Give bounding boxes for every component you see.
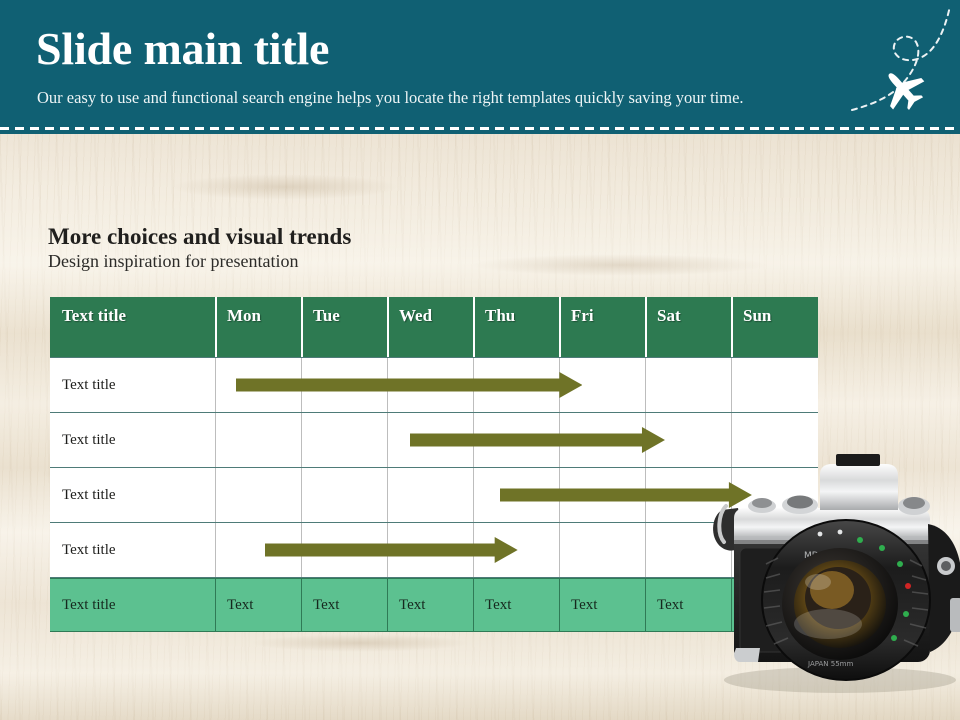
camera-photo: MD ROKKOR JAPAN 55mm (700, 448, 960, 696)
cell[interactable] (473, 358, 559, 412)
slide-header: Slide main title Our easy to use and fun… (0, 0, 960, 134)
slide-canvas: Slide main title Our easy to use and fun… (0, 0, 960, 720)
table-row[interactable]: Text title (50, 357, 818, 413)
airplane-icon (844, 0, 954, 125)
cell[interactable] (559, 413, 645, 467)
cell[interactable] (387, 358, 473, 412)
page-subtitle: Our easy to use and functional search en… (37, 88, 744, 108)
cell[interactable] (301, 523, 387, 577)
cell[interactable] (215, 358, 301, 412)
cell[interactable] (473, 523, 559, 577)
section-subtitle: Design inspiration for presentation (48, 251, 298, 272)
page-title: Slide main title (36, 22, 329, 75)
cell[interactable] (215, 413, 301, 467)
header-dashed-divider (0, 127, 960, 130)
cell[interactable] (559, 468, 645, 522)
column-header-tue: Tue (301, 297, 387, 357)
cell[interactable] (215, 523, 301, 577)
cell[interactable] (215, 468, 301, 522)
footer-cell[interactable]: Text (301, 579, 387, 631)
footer-cell[interactable]: Text (473, 579, 559, 631)
footer-cell[interactable]: Text (387, 579, 473, 631)
cell[interactable] (559, 523, 645, 577)
column-header-fri: Fri (559, 297, 645, 357)
cell[interactable] (387, 413, 473, 467)
cell[interactable] (387, 523, 473, 577)
column-header-thu: Thu (473, 297, 559, 357)
cell[interactable] (559, 358, 645, 412)
column-header-sat: Sat (645, 297, 731, 357)
cell[interactable] (645, 358, 731, 412)
row-label: Text title (50, 358, 215, 412)
column-header-text-title: Text title (50, 297, 215, 357)
cell[interactable] (301, 358, 387, 412)
svg-text:JAPAN 55mm: JAPAN 55mm (807, 660, 853, 668)
row-label: Text title (50, 413, 215, 467)
table-header-row: Text title Mon Tue Wed Thu Fri Sat Sun (50, 297, 818, 357)
row-label: Text title (50, 523, 215, 577)
column-header-mon: Mon (215, 297, 301, 357)
cell[interactable] (301, 468, 387, 522)
cell[interactable] (473, 413, 559, 467)
cell[interactable] (473, 468, 559, 522)
footer-row-label: Text title (50, 579, 215, 631)
column-header-sun: Sun (731, 297, 817, 357)
cell[interactable] (301, 413, 387, 467)
section-title: More choices and visual trends (48, 224, 351, 250)
footer-cell[interactable]: Text (559, 579, 645, 631)
column-header-wed: Wed (387, 297, 473, 357)
cell[interactable] (387, 468, 473, 522)
row-label: Text title (50, 468, 215, 522)
cell[interactable] (731, 358, 817, 412)
footer-cell[interactable]: Text (215, 579, 301, 631)
